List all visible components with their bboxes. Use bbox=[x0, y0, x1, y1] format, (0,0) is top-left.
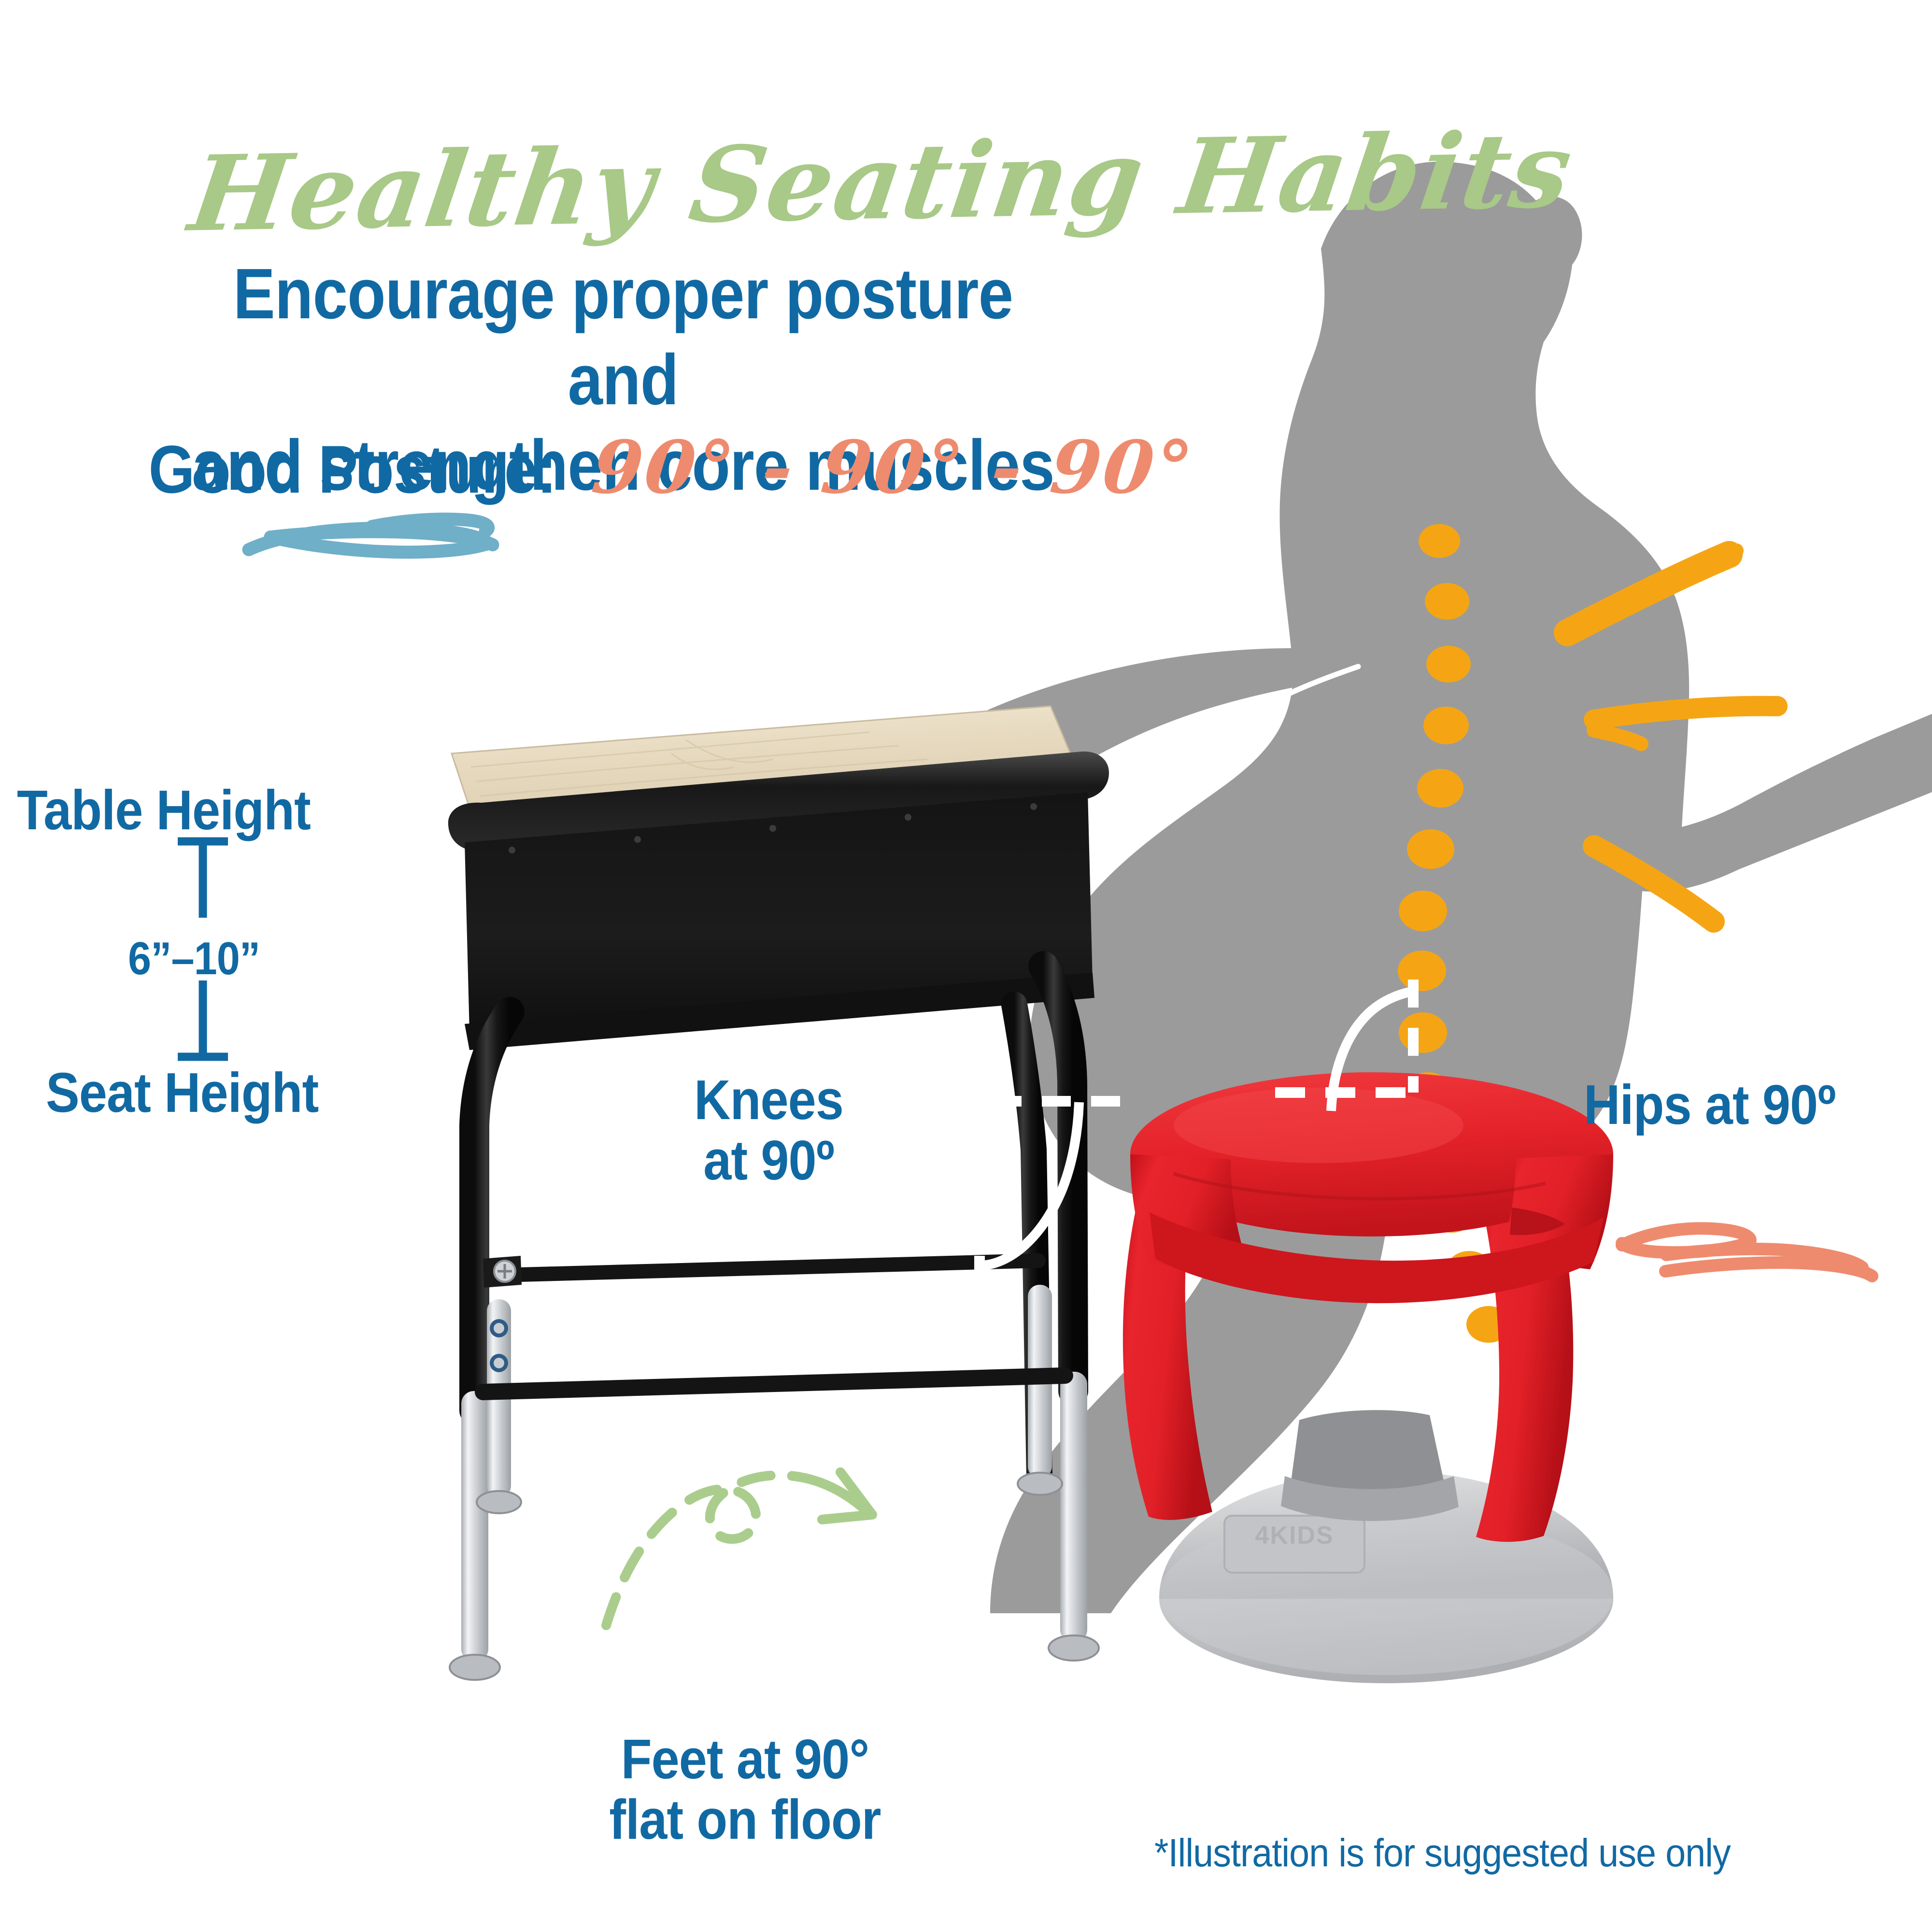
height-gap-range: 6”–10” bbox=[128, 932, 260, 985]
infographic-canvas: 4KIDS bbox=[0, 0, 1932, 1932]
disclaimer-text: *Illustration is for suggested use only bbox=[1154, 1831, 1731, 1876]
callout-knees: Knees at 90º bbox=[694, 1070, 843, 1191]
green-dashed-arrow-icon bbox=[606, 1472, 872, 1625]
svg-text:4KIDS: 4KIDS bbox=[1255, 1521, 1334, 1549]
page-title-script: Healthy Seating Habits bbox=[183, 109, 1579, 255]
good-posture-label: Good Posture: bbox=[149, 430, 556, 509]
coral-squiggle-icon bbox=[1622, 1228, 1872, 1276]
good-posture-value: 90° - 90° - 90° bbox=[588, 425, 1198, 510]
callout-feet: Feet at 90° flat on floor bbox=[609, 1729, 881, 1850]
blue-squiggle-underline-icon bbox=[249, 519, 493, 552]
table-height-label: Table Height bbox=[17, 778, 311, 842]
seat-height-label: Seat Height bbox=[46, 1060, 318, 1125]
headline-line-1: Encourage proper posture and bbox=[181, 251, 1065, 423]
callout-hips: Hips at 90º bbox=[1584, 1075, 1835, 1135]
good-posture-row: Good Posture:90° - 90° - 90° bbox=[121, 425, 1125, 510]
